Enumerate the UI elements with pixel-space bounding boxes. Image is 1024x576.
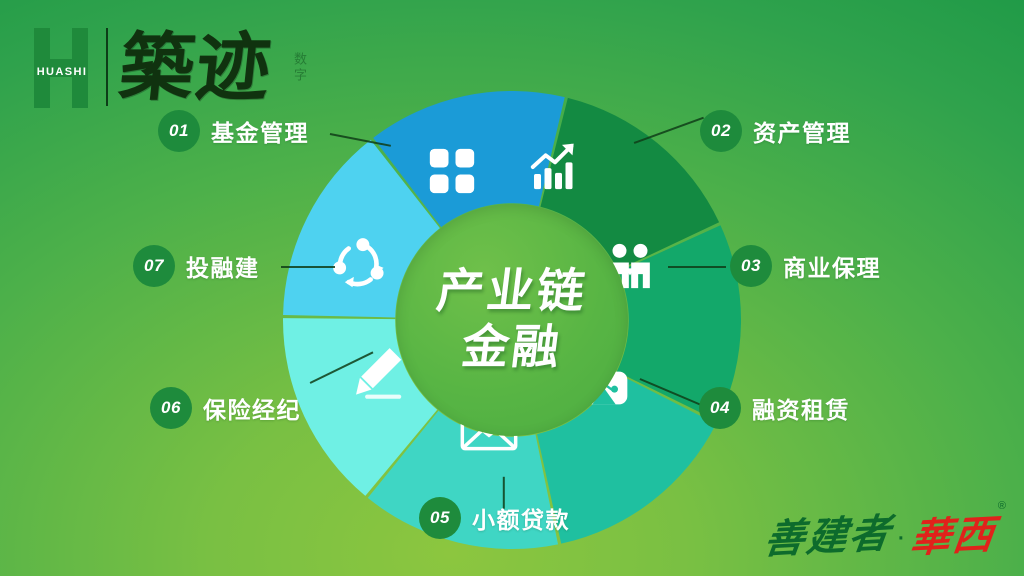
callout-number-03: 03 xyxy=(730,245,772,287)
callout-05[interactable]: 05 小额贷款 xyxy=(419,497,570,539)
leader-line-03 xyxy=(668,266,726,268)
brand-divider xyxy=(106,28,108,106)
center-title-line1: 产业链 xyxy=(434,264,591,320)
signature-right-text: 華西 xyxy=(907,510,998,564)
center-title-line2: 金融 xyxy=(459,320,566,376)
callout-01[interactable]: 01 基金管理 xyxy=(158,110,309,152)
callout-label-03: 商业保理 xyxy=(783,249,881,283)
callout-06[interactable]: 06 保险经纪 xyxy=(150,387,301,429)
callout-07[interactable]: 07 投融建 xyxy=(133,245,260,287)
callout-number-05: 05 xyxy=(419,497,461,539)
donut-center-hub: 产业链 金融 xyxy=(396,204,628,436)
callout-label-05: 小额贷款 xyxy=(472,501,570,535)
brand-name-sub: 数字 xyxy=(290,52,307,84)
callout-label-06: 保险经纪 xyxy=(203,391,301,425)
callout-label-07: 投融建 xyxy=(186,249,260,283)
callout-02[interactable]: 02 资产管理 xyxy=(700,110,851,152)
brand-name-cn: 築迹 xyxy=(115,18,278,118)
callout-03[interactable]: 03 商业保理 xyxy=(730,245,881,287)
callout-number-06: 06 xyxy=(150,387,192,429)
callout-number-04: 04 xyxy=(699,387,741,429)
leader-line-07 xyxy=(281,266,335,268)
callout-label-01: 基金管理 xyxy=(211,114,309,148)
callout-number-01: 01 xyxy=(158,110,200,152)
industry-chain-donut-chart: 产业链 金融 xyxy=(283,91,741,549)
company-signature: 善建者 · 華西 ® xyxy=(765,496,1006,562)
signature-left-text: 善建者 xyxy=(761,509,894,566)
callout-number-02: 02 xyxy=(700,110,742,152)
huashi-romanized-label: HUASHI xyxy=(30,66,94,78)
callout-04[interactable]: 04 融资租赁 xyxy=(699,387,850,429)
callout-number-07: 07 xyxy=(133,245,175,287)
callout-label-04: 融资租赁 xyxy=(752,391,850,425)
callout-label-02: 资产管理 xyxy=(753,114,851,148)
slide-canvas: HUASHI 築迹 数字 xyxy=(0,0,1024,576)
